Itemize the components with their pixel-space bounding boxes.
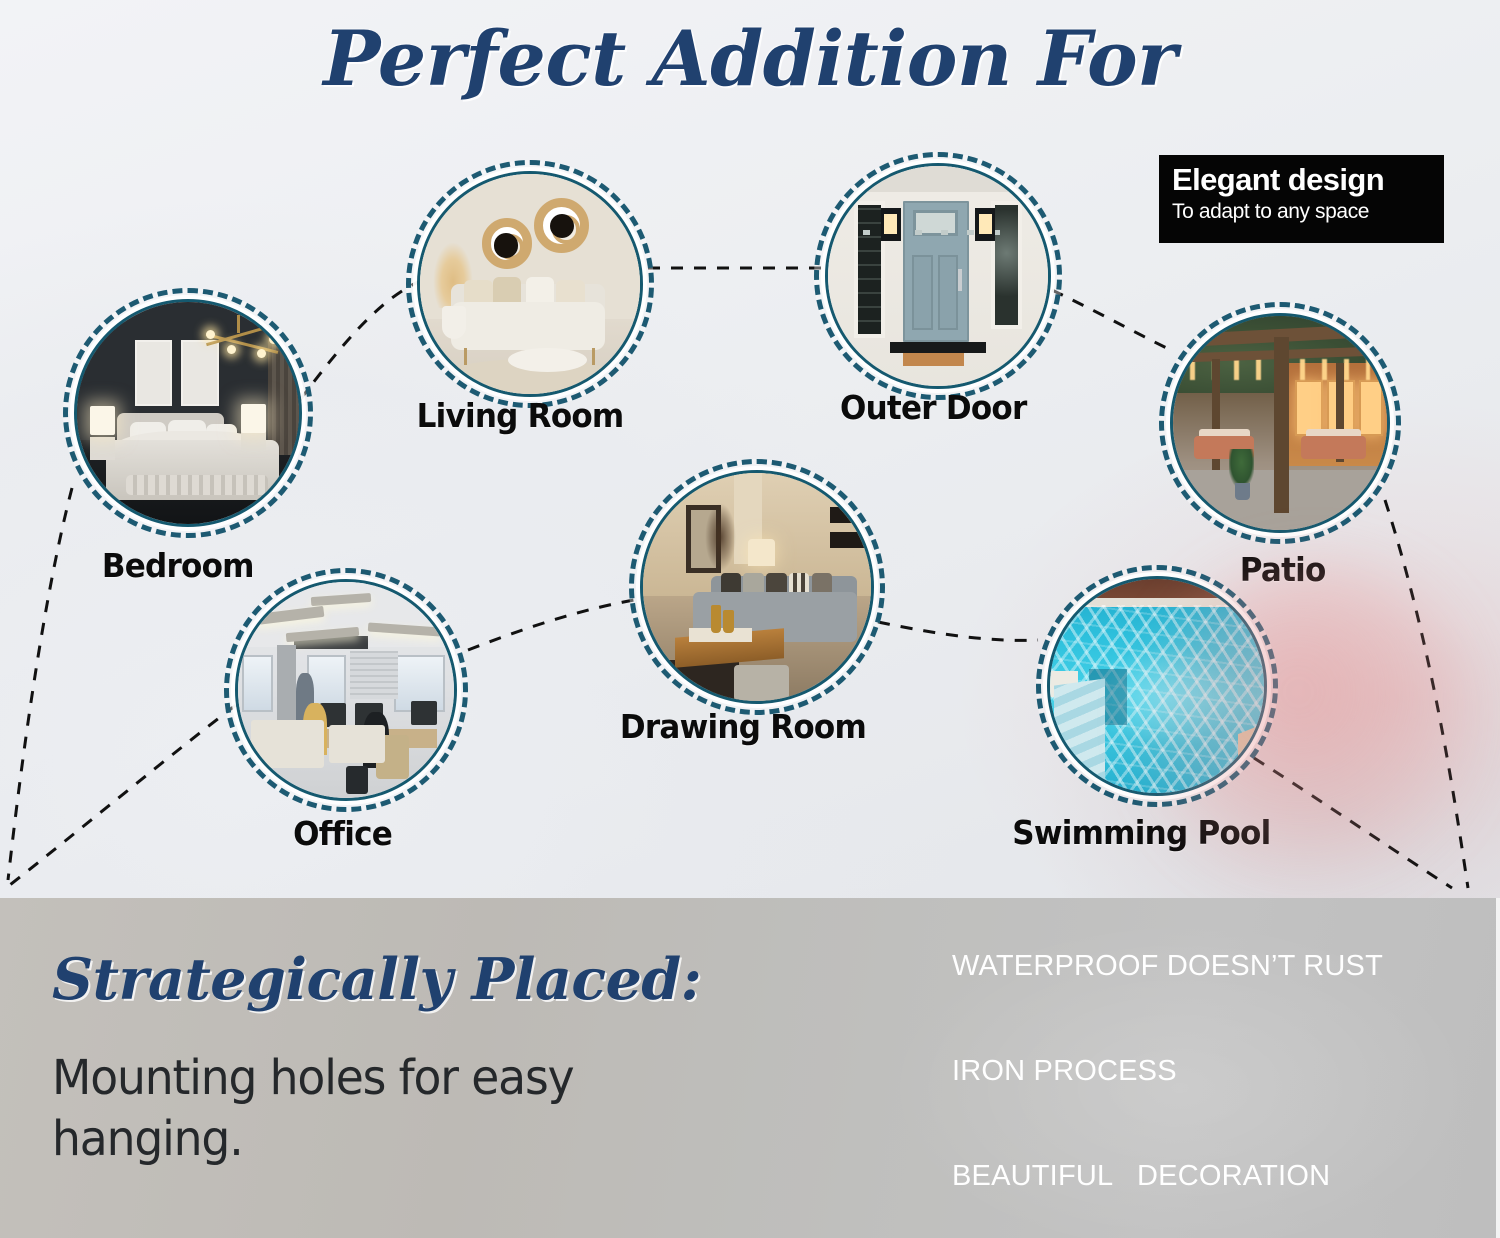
upper-section: Perfect Addition For <box>0 0 1500 898</box>
swimming-pool-photo <box>1047 576 1267 796</box>
node-office[interactable]: Office <box>224 568 468 812</box>
living-room-photo <box>417 171 643 397</box>
node-bedroom[interactable]: Bedroom <box>63 288 313 538</box>
badge-headline: Elegant design <box>1172 164 1444 197</box>
mounting-holes-text: Mounting holes for easy hanging. <box>52 1048 717 1171</box>
node-label-drawing-room: Drawing Room <box>620 707 866 746</box>
feature-waterproof: WATERPROOF DOESN’T RUST <box>952 950 1383 983</box>
elegant-design-badge: Elegant design To adapt to any space <box>1159 155 1444 243</box>
node-label-living-room: Living Room <box>417 396 624 435</box>
node-swimming-pool[interactable]: Swimming Pool <box>1036 565 1278 807</box>
feature-beautiful-decoration: BEAUTIFUL DECORATION <box>952 1160 1330 1193</box>
badge-subline: To adapt to any space <box>1172 200 1444 224</box>
node-living-room[interactable]: Living Room <box>406 160 654 408</box>
node-label-swimming-pool: Swimming Pool <box>1012 813 1270 852</box>
node-patio[interactable]: Patio <box>1159 302 1401 544</box>
drawing-room-photo <box>640 470 874 704</box>
office-photo <box>235 579 457 801</box>
product-infographic: Perfect Addition For <box>0 0 1500 1238</box>
node-label-office: Office <box>293 814 392 853</box>
patio-photo <box>1170 313 1390 533</box>
node-drawing-room[interactable]: Drawing Room <box>629 459 885 715</box>
outer-door-photo <box>825 163 1051 389</box>
strategically-placed-heading: Strategically Placed: <box>52 946 701 1013</box>
node-label-outer-door: Outer Door <box>840 388 1027 427</box>
bedroom-photo <box>74 299 302 527</box>
node-outer-door[interactable]: Outer Door <box>814 152 1062 400</box>
feature-iron-process: IRON PROCESS <box>952 1055 1177 1088</box>
